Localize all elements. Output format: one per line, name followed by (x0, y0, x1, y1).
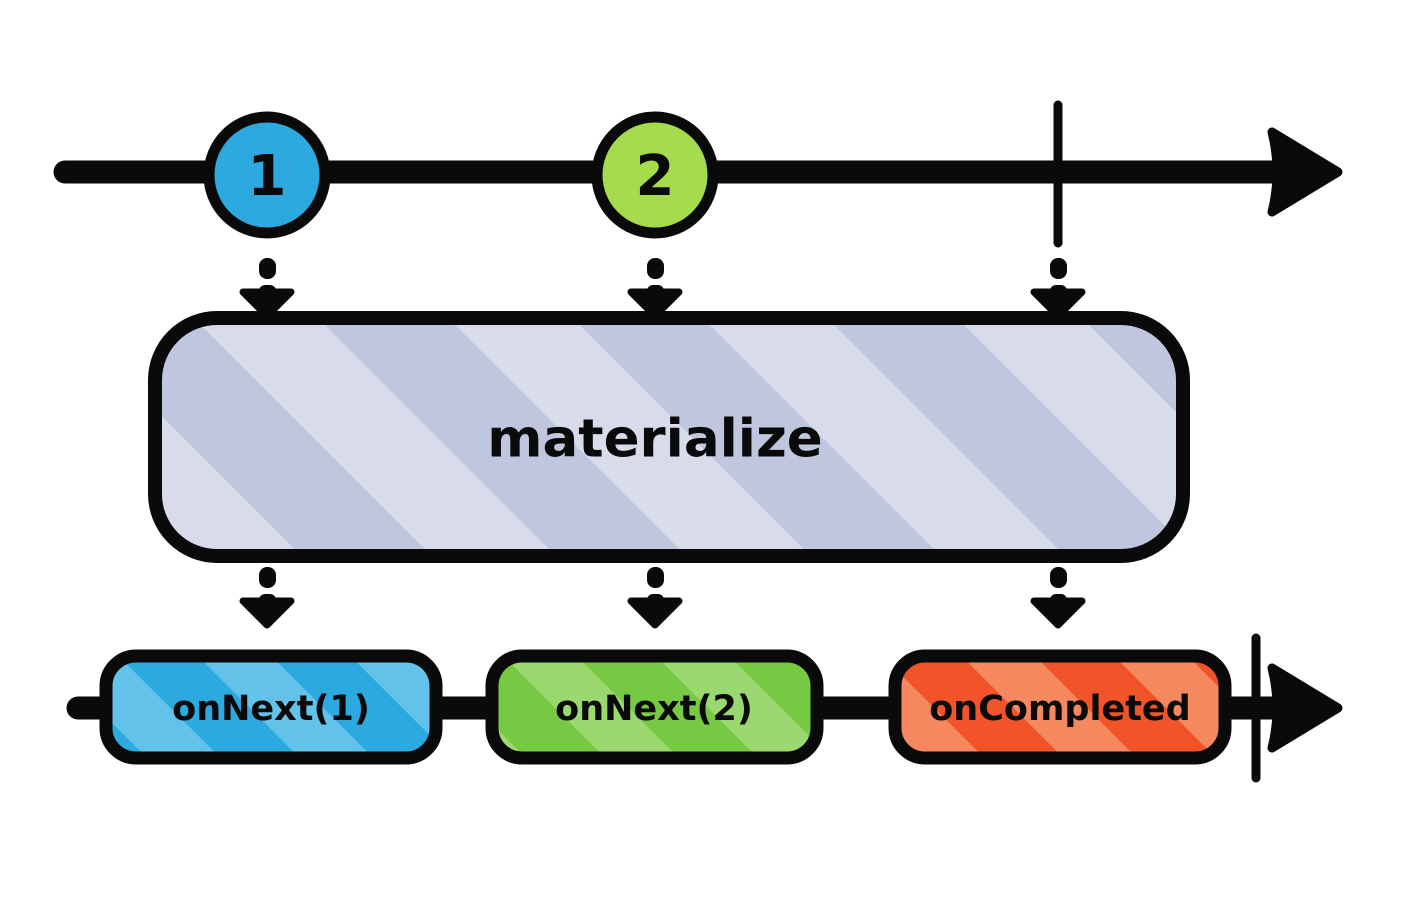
result-notification-3-label: onCompleted (929, 689, 1190, 729)
arrow-out-1-icon (243, 567, 291, 625)
arrows-out-of-operator (243, 567, 1082, 625)
marble-diagram-canvas: 1 2 (0, 0, 1401, 901)
operator-box-label: materialize (487, 409, 822, 470)
arrow-in-3-icon (1034, 258, 1082, 316)
result-notification-2[interactable]: onNext(2) (492, 656, 817, 758)
arrow-out-3-icon (1034, 567, 1082, 625)
source-timeline: 1 2 (65, 105, 1338, 243)
operator-box[interactable]: materialize (155, 318, 1183, 556)
arrows-into-operator (243, 258, 1082, 316)
arrow-in-2-icon (631, 258, 679, 316)
result-notification-3[interactable]: onCompleted (895, 656, 1225, 758)
source-timeline-arrowhead (1272, 132, 1338, 212)
arrow-in-1-icon (243, 258, 291, 316)
result-timeline: onNext(1) onNext(2) onCompleted (78, 638, 1338, 778)
arrow-out-2-icon (631, 567, 679, 625)
source-marble-1-label: 1 (248, 144, 287, 209)
result-notification-2-label: onNext(2) (555, 689, 753, 729)
source-marble-2[interactable]: 2 (597, 117, 713, 233)
result-timeline-arrowhead (1272, 668, 1338, 748)
result-notification-1-label: onNext(1) (172, 689, 370, 729)
source-marble-1[interactable]: 1 (209, 117, 325, 233)
marble-diagram-svg: 1 2 (0, 0, 1401, 901)
source-marble-2-label: 2 (636, 144, 675, 209)
result-notification-1[interactable]: onNext(1) (106, 656, 436, 758)
